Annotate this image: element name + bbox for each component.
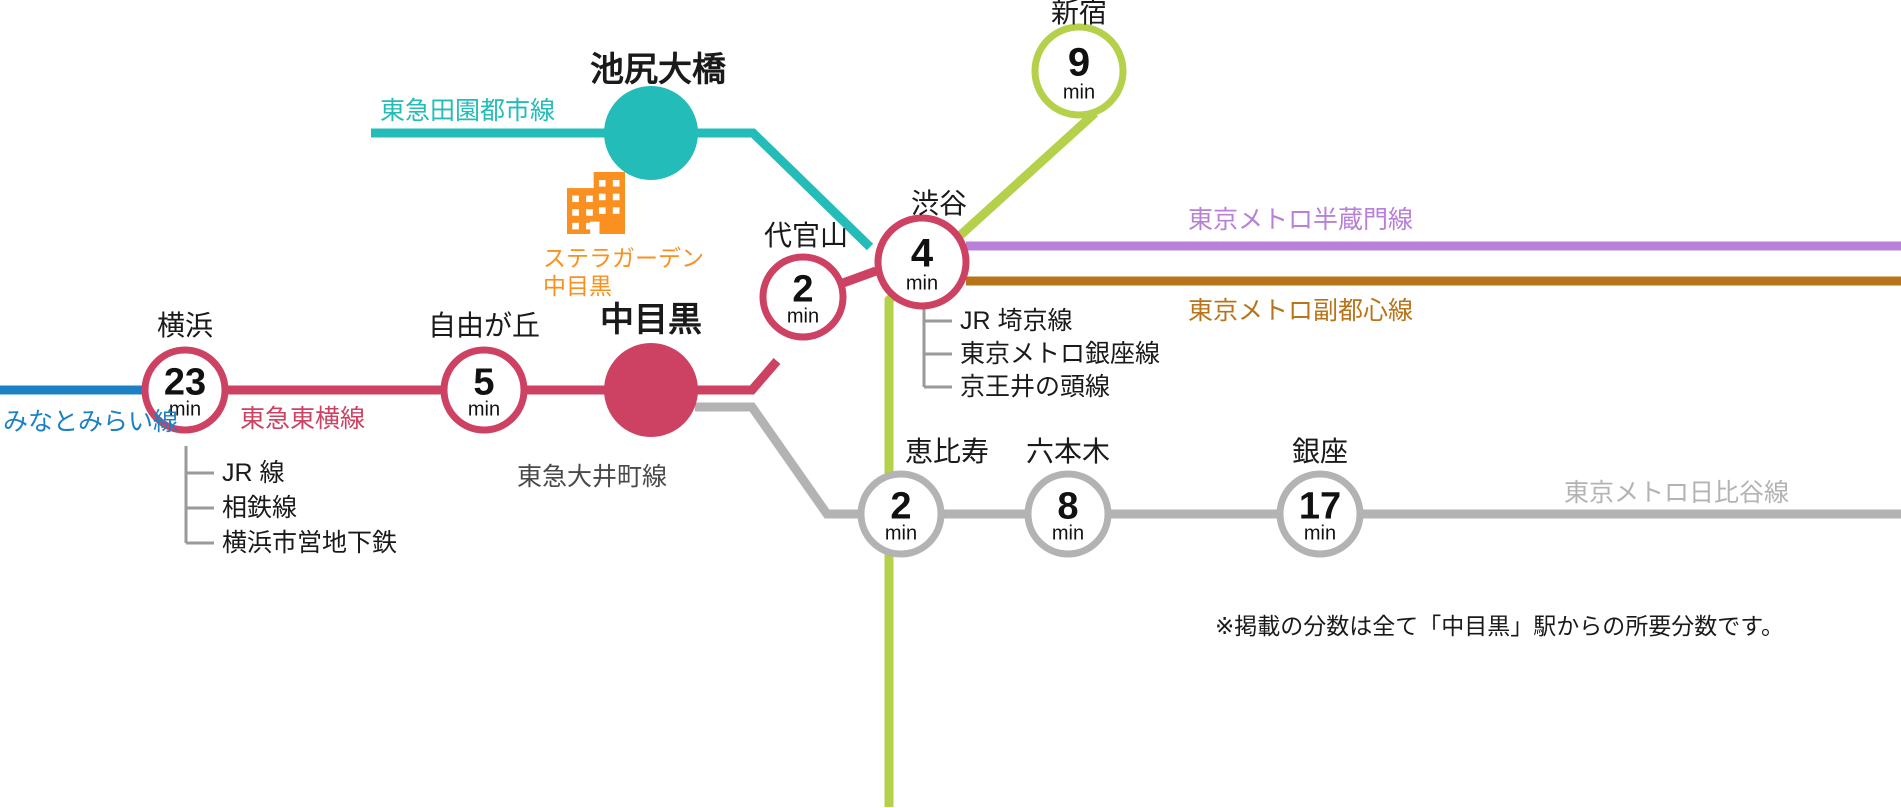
station-minutes: 2: [792, 268, 813, 310]
station-minutes: 17: [1299, 485, 1341, 527]
route-map-container: JR 線相鉄線横浜市営地下鉄JR 埼京線東京メトロ銀座線京王井の頭線 ステラガー…: [0, 0, 1901, 808]
station-name-label: 渋谷: [911, 188, 967, 219]
poi-label-line: ステラガーデン: [543, 245, 704, 271]
footnote: ※掲載の分数は全て「中目黒」駅からの所要分数です。: [1215, 613, 1784, 639]
station-marker[interactable]: [604, 86, 698, 180]
station-name-label: 銀座: [1292, 436, 1348, 467]
station-name-label: 中目黒: [600, 301, 702, 339]
station-minutes: 2: [890, 485, 911, 527]
station-minutes: 8: [1057, 485, 1078, 527]
station-nakameguro[interactable]: 中目黒: [600, 301, 702, 437]
line-label-toyoko[interactable]: 東急東横線: [240, 405, 365, 433]
sub-line-item[interactable]: JR 埼京線: [960, 307, 1073, 335]
station-roppongi[interactable]: 8min六本木: [1026, 436, 1110, 554]
station-minutes-unit: min: [1052, 522, 1084, 544]
poi-label-line: 中目黒: [543, 273, 612, 299]
line-label-hanzomon[interactable]: 東京メトロ半蔵門線: [1188, 206, 1413, 234]
station-minutes: 4: [911, 231, 934, 275]
station-minutes: 5: [473, 361, 494, 403]
sub-line-item[interactable]: 京王井の頭線: [960, 373, 1110, 401]
station-minutes-unit: min: [787, 305, 819, 327]
station-name-label: 自由が丘: [428, 310, 540, 341]
station-name-label: 恵比寿: [905, 436, 989, 467]
station-minutes-unit: min: [1063, 81, 1095, 103]
line-label-denentoshi[interactable]: 東急田園都市線: [380, 97, 555, 125]
sub-line-item[interactable]: 相鉄線: [222, 494, 297, 522]
sub-line-item[interactable]: 横浜市営地下鉄: [222, 529, 397, 557]
map-background: [0, 0, 1901, 808]
sub-line-item[interactable]: JR 線: [222, 459, 285, 487]
station-minutes: 9: [1068, 40, 1090, 84]
station-minutes-unit: min: [1304, 522, 1336, 544]
station-minutes: 23: [164, 361, 206, 403]
station-minutes-unit: min: [468, 398, 500, 420]
station-name-label: 代官山: [764, 220, 848, 251]
line-label-fukutoshin[interactable]: 東京メトロ副都心線: [1188, 297, 1413, 325]
line-label-minatomirai[interactable]: みなとみらい線: [3, 408, 178, 436]
sub-line-item[interactable]: 東京メトロ銀座線: [960, 340, 1160, 368]
station-marker[interactable]: [604, 343, 698, 437]
station-name-label: 池尻大橋: [590, 51, 726, 89]
line-label-hibiya[interactable]: 東京メトロ日比谷線: [1564, 479, 1789, 507]
railway-route-map: JR 線相鉄線横浜市営地下鉄JR 埼京線東京メトロ銀座線京王井の頭線 ステラガー…: [0, 0, 1901, 808]
station-ginza[interactable]: 17min銀座: [1280, 436, 1360, 554]
station-minutes-unit: min: [885, 522, 917, 544]
line-label-oimachi[interactable]: 東急大井町線: [517, 463, 667, 491]
station-name-label: 新宿: [1051, 0, 1107, 28]
station-name-label: 六本木: [1026, 436, 1110, 467]
station-name-label: 横浜: [157, 310, 213, 341]
station-daikanyama[interactable]: 2min代官山: [763, 220, 848, 337]
station-minutes-unit: min: [906, 272, 938, 294]
